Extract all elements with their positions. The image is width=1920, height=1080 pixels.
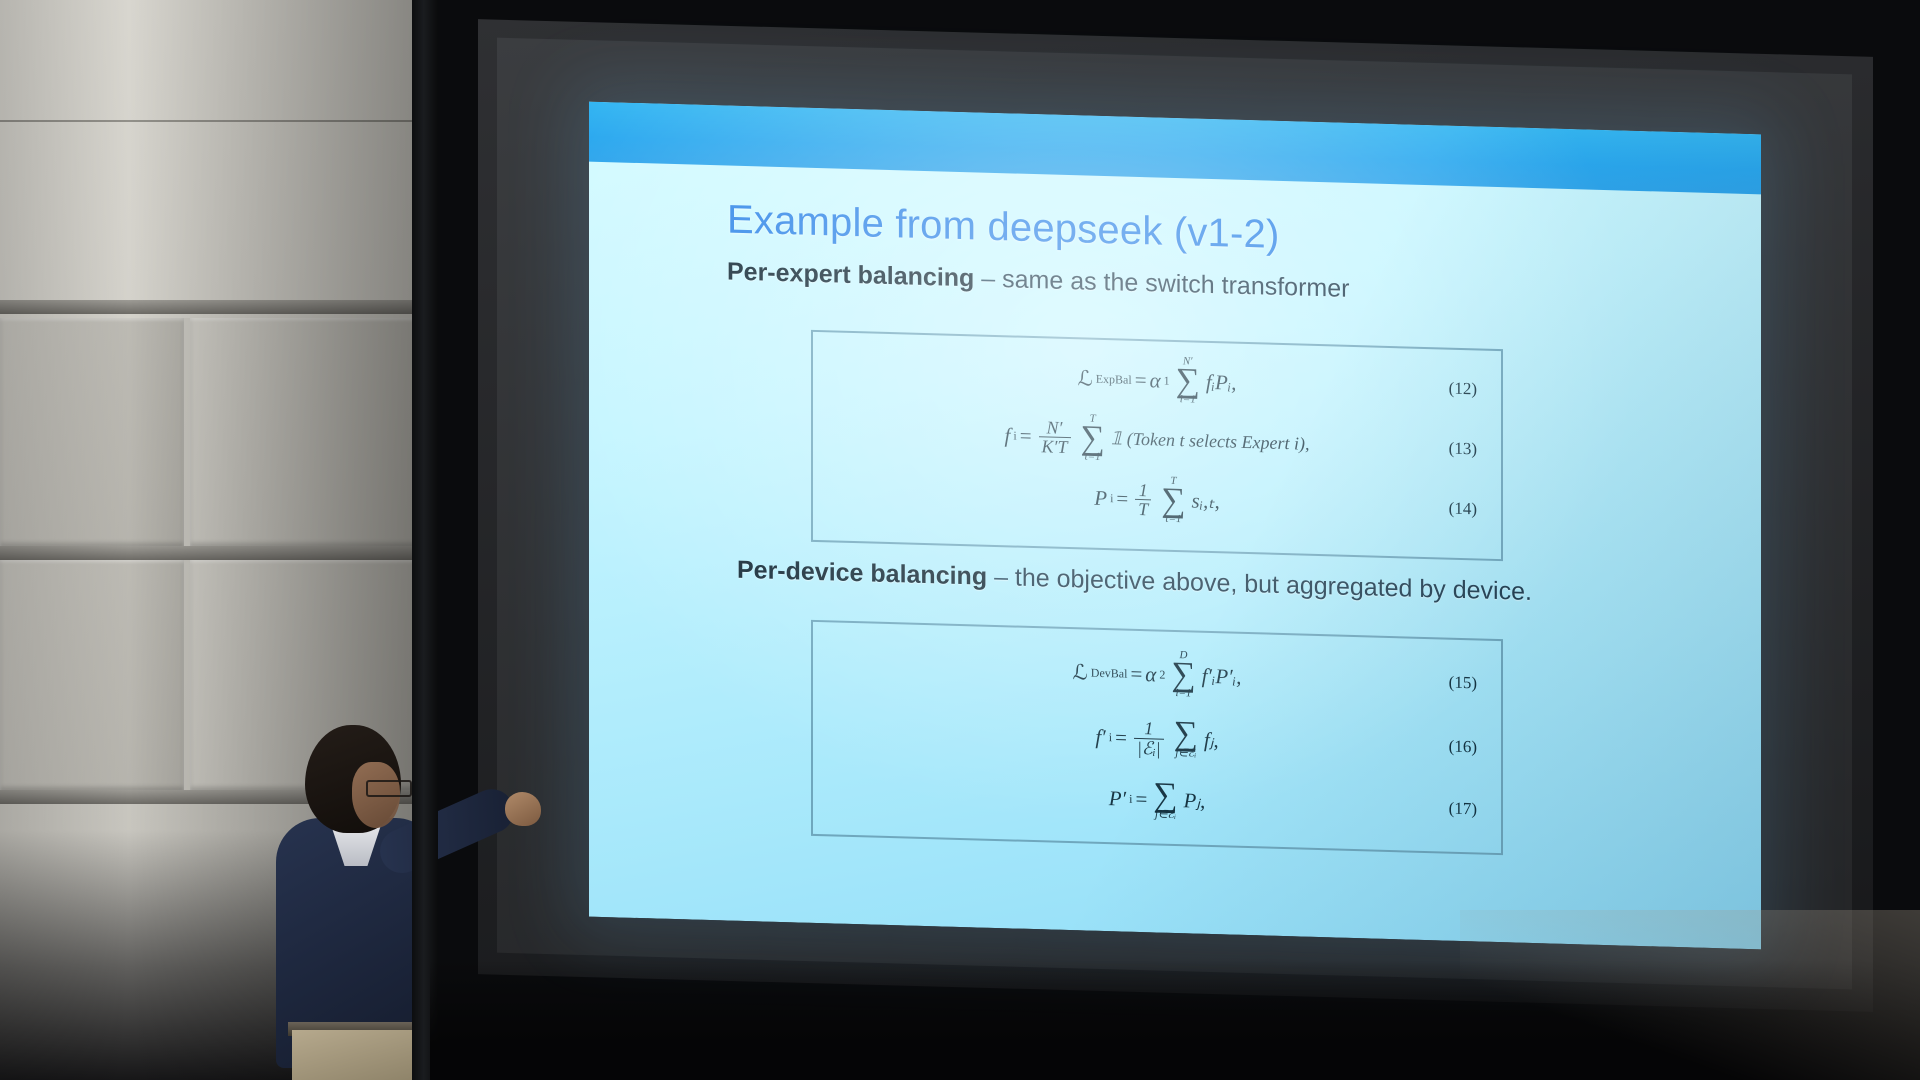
- equation-13-fraction: N′ K′T: [1039, 418, 1071, 458]
- per-device-lead-rest: the objective above, but aggregated by d…: [1015, 564, 1532, 606]
- equation-12-alpha: α: [1150, 368, 1161, 393]
- equation-16-lhs: f′: [1095, 724, 1105, 749]
- equation-12-row: ℒExpBal = α1 N′ ∑ i=1 fᵢPᵢ, (12): [813, 348, 1501, 413]
- floor-light-patch: [1460, 910, 1920, 1080]
- per-device-lead-dash: –: [994, 563, 1008, 591]
- projected-slide: Example from deepseek (v1-2) Per-expert …: [589, 102, 1761, 950]
- equation-14-lhs: P: [1094, 486, 1107, 511]
- equation-13-sum-lower: t=1: [1085, 453, 1101, 463]
- equation-13-body: fi = N′ K′T T ∑ t=1 𝟙 (Token t selects E…: [1005, 412, 1310, 468]
- equation-13-row: fi = N′ K′T T ∑ t=1 𝟙 (Token t selects E…: [813, 406, 1501, 475]
- slide-title: Example from deepseek (v1-2): [727, 197, 1280, 257]
- equation-16-sum: ∑ j∈ℰᵢ: [1174, 720, 1198, 759]
- screen-support-pole: [412, 0, 438, 1080]
- equation-16-numerator: 1: [1141, 719, 1156, 738]
- equation-14-terms: sᵢ,ₜ,: [1192, 489, 1220, 515]
- presenter-legs: [292, 1030, 428, 1080]
- per-device-lead-bold: Per-device balancing: [737, 556, 987, 591]
- equation-17-lhs: P′: [1109, 787, 1126, 812]
- per-device-lead: Per-device balancing – the objective abo…: [737, 556, 1532, 607]
- equation-12-terms: fᵢPᵢ,: [1206, 369, 1237, 395]
- equation-16-terms: fⱼ,: [1204, 727, 1219, 752]
- equation-12-sum-lower: i=1: [1180, 396, 1196, 406]
- equation-15-terms: f′ᵢP′ᵢ,: [1202, 663, 1242, 689]
- equation-12-body: ℒExpBal = α1 N′ ∑ i=1 fᵢPᵢ,: [1078, 354, 1237, 406]
- equation-17-sum-lower: j∈ℰᵢ: [1155, 810, 1176, 820]
- equation-16-sum-lower: j∈ℰᵢ: [1175, 749, 1196, 759]
- per-expert-lead-dash: –: [981, 265, 995, 293]
- presenter-hand: [505, 792, 541, 826]
- equation-14-sum: T ∑ t=1: [1161, 477, 1185, 525]
- equation-13-lhs: f: [1005, 424, 1011, 449]
- equation-13-denominator: K′T: [1039, 437, 1071, 458]
- equation-16-fraction: 1 |ℰᵢ|: [1134, 718, 1164, 758]
- equation-15-body: ℒDevBal = α2 D ∑ i=1 f′ᵢP′ᵢ,: [1073, 648, 1242, 700]
- equation-17-body: P′i = ∑ j∈ℰᵢ Pⱼ,: [1109, 780, 1206, 821]
- per-expert-lead: Per-expert balancing – same as the switc…: [727, 257, 1349, 303]
- glasses-icon: [366, 780, 412, 797]
- equation-15-row: ℒDevBal = α2 D ∑ i=1 f′ᵢP′ᵢ, (15): [813, 642, 1501, 707]
- equation-13-number: (13): [1449, 439, 1477, 460]
- per-expert-lead-rest: same as the switch transformer: [1002, 265, 1349, 303]
- equation-13-numerator: N′: [1044, 418, 1066, 438]
- lecture-room: Example from deepseek (v1-2) Per-expert …: [0, 0, 1920, 1080]
- equation-17-sum: ∑ j∈ℰᵢ: [1153, 781, 1177, 820]
- equation-15-alpha-sub: 2: [1159, 667, 1165, 682]
- equation-17-row: P′i = ∑ j∈ℰᵢ Pⱼ, (17): [813, 766, 1501, 835]
- equation-15-sum-lower: i=1: [1175, 689, 1191, 699]
- equation-17-number: (17): [1449, 799, 1477, 820]
- equation-15-number: (15): [1449, 673, 1477, 694]
- equation-14-row: Pi = 1 T T ∑ t=1 sᵢ,ₜ, (14): [813, 466, 1501, 535]
- equation-16-row: f′i = 1 |ℰᵢ| ∑ j∈ℰᵢ fⱼ, (16): [813, 704, 1501, 773]
- equation-12-sum: N′ ∑ i=1: [1176, 357, 1200, 405]
- equation-12-alpha-sub: 1: [1164, 373, 1170, 388]
- per-expert-lead-bold: Per-expert balancing: [727, 257, 974, 292]
- equation-17-terms: Pⱼ,: [1184, 789, 1206, 815]
- equation-12-number: (12): [1449, 379, 1477, 400]
- equation-14-sum-lower: t=1: [1165, 515, 1181, 525]
- slide-surface: Example from deepseek (v1-2) Per-expert …: [589, 102, 1761, 950]
- equation-14-numerator: 1: [1136, 480, 1151, 499]
- equation-14-denominator: T: [1135, 499, 1151, 519]
- equation-16-body: f′i = 1 |ℰᵢ| ∑ j∈ℰᵢ fⱼ,: [1095, 717, 1218, 759]
- equation-13-sum: T ∑ t=1: [1081, 415, 1105, 463]
- per-device-equation-box: ℒDevBal = α2 D ∑ i=1 f′ᵢP′ᵢ, (15): [811, 620, 1503, 855]
- equation-14-fraction: 1 T: [1135, 480, 1151, 519]
- equation-16-denominator: |ℰᵢ|: [1134, 737, 1164, 758]
- equation-15-lhs: DevBal: [1091, 665, 1128, 681]
- equation-15-alpha: α: [1145, 662, 1156, 687]
- equation-14-number: (14): [1449, 499, 1477, 520]
- per-expert-equation-box: ℒExpBal = α1 N′ ∑ i=1 fᵢPᵢ, (12): [811, 330, 1503, 561]
- equation-14-body: Pi = 1 T T ∑ t=1 sᵢ,ₜ,: [1094, 475, 1219, 526]
- equation-13-terms: 𝟙 (Token t selects Expert i),: [1111, 429, 1310, 456]
- equation-12-lhs: ExpBal: [1096, 371, 1132, 387]
- equation-15-sum: D ∑ i=1: [1171, 651, 1195, 699]
- equation-16-number: (16): [1449, 737, 1477, 758]
